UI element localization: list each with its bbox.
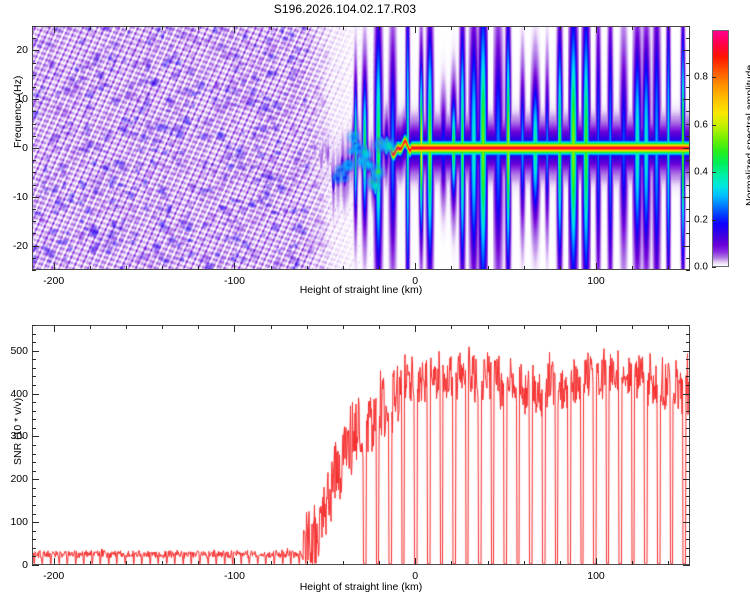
snr-xtick-minor — [451, 561, 452, 565]
spectrogram-xtick-minor-top — [90, 26, 91, 30]
snr-plot-area — [33, 326, 689, 564]
snr-ytick-minor — [32, 411, 36, 412]
snr-ytick-minor — [32, 402, 36, 403]
spectrogram-ytick-minor — [32, 136, 36, 137]
spectrogram-xaxis-title: Height of straight line (km) — [300, 284, 423, 296]
spectrogram-ytick-minor — [32, 221, 36, 222]
snr-ytick-minor-right — [686, 514, 690, 515]
snr-ytick-minor — [32, 539, 36, 540]
spectrogram-xtick-label: 100 — [587, 275, 605, 287]
spectrogram-xtick-minor — [90, 266, 91, 270]
spectrogram-ytick-minor-right — [686, 233, 690, 234]
spectrogram-canvas — [33, 27, 689, 269]
snr-ytick-minor — [32, 368, 36, 369]
snr-xtick-minor — [198, 561, 199, 565]
spectrogram-xtick-minor-top — [307, 26, 308, 30]
spectrogram-ytick-minor — [32, 26, 36, 27]
snr-ytick-minor-right — [686, 488, 690, 489]
snr-ytick-minor — [32, 419, 36, 420]
figure-root: S196.2026.104.02.17.R03 -200-1000100-20-… — [0, 0, 750, 600]
spectrogram-xtick — [415, 263, 416, 270]
snr-xtick-minor-top — [198, 325, 199, 329]
snr-ytick — [32, 522, 39, 523]
colorbar-tick-label: 0.2 — [682, 214, 708, 225]
spectrogram-ytick-minor-right — [686, 160, 690, 161]
snr-ytick — [32, 565, 39, 566]
spectrogram-ytick-minor — [32, 185, 36, 186]
spectrogram-ytick-minor — [32, 209, 36, 210]
spectrogram-ytick-minor-right — [686, 87, 690, 88]
snr-ytick-minor — [32, 454, 36, 455]
spectrogram-ytick-minor — [32, 124, 36, 125]
colorbar-tick-label: 0.0 — [682, 262, 708, 273]
snr-xtick-minor — [343, 561, 344, 565]
spectrogram-ytick-minor-right — [686, 38, 690, 39]
spectrogram-xtick-minor — [488, 266, 489, 270]
spectrogram-ytick-right — [683, 246, 690, 247]
snr-ytick-minor-right — [686, 539, 690, 540]
spectrogram-ytick — [32, 99, 39, 100]
spectrogram-xtick-top — [596, 26, 597, 33]
spectrogram-xtick-minor-top — [379, 26, 380, 30]
snr-ytick — [32, 394, 39, 395]
snr-ytick-minor — [32, 385, 36, 386]
spectrogram-ytick — [32, 246, 39, 247]
snr-xtick-minor-top — [271, 325, 272, 329]
colorbar-tick-label: 0.4 — [682, 167, 708, 178]
snr-ytick-right — [683, 565, 690, 566]
snr-xtick-minor — [90, 561, 91, 565]
spectrogram-ytick-minor-right — [686, 258, 690, 259]
snr-xtick-minor — [524, 561, 525, 565]
spectrogram-ytick-minor-right — [686, 209, 690, 210]
spectrogram-xtick-label: -100 — [224, 275, 245, 287]
snr-ytick-right — [683, 522, 690, 523]
snr-ytick-minor-right — [686, 445, 690, 446]
spectrogram-ytick-minor — [32, 87, 36, 88]
snr-xtick-minor-top — [488, 325, 489, 329]
snr-ytick-minor — [32, 488, 36, 489]
snr-canvas — [33, 326, 689, 564]
snr-xtick-label: -200 — [43, 570, 64, 582]
snr-ytick-minor-right — [686, 325, 690, 326]
spectrogram-plot-area — [33, 27, 689, 269]
spectrogram-ytick-minor — [32, 111, 36, 112]
spectrogram-xtick-minor-top — [560, 26, 561, 30]
spectrogram-axes — [32, 26, 690, 270]
snr-xtick-minor — [632, 561, 633, 565]
spectrogram-ytick-minor — [32, 63, 36, 64]
snr-ytick-minor-right — [686, 342, 690, 343]
spectrogram-xtick-minor — [162, 266, 163, 270]
snr-xtick-minor — [379, 561, 380, 565]
spectrogram-ytick-minor — [32, 75, 36, 76]
snr-yaxis-title: SNR (10 * v/v) — [12, 398, 24, 465]
snr-xtick-minor — [488, 561, 489, 565]
spectrogram-ytick-minor — [32, 172, 36, 173]
spectrogram-ytick-label: 20 — [2, 44, 28, 56]
snr-ytick-label: 100 — [2, 516, 28, 528]
spectrogram-ytick-minor-right — [686, 136, 690, 137]
spectrogram-ytick-right — [683, 99, 690, 100]
spectrogram-xtick-top — [415, 26, 416, 33]
spectrogram-xtick-minor-top — [632, 26, 633, 30]
snr-xtick-minor-top — [307, 325, 308, 329]
spectrogram-xtick-minor-top — [343, 26, 344, 30]
snr-xtick-minor — [560, 561, 561, 565]
spectrogram-ytick-minor-right — [686, 111, 690, 112]
snr-xtick-minor — [162, 561, 163, 565]
snr-xtick — [234, 558, 235, 565]
snr-xtick-minor — [668, 561, 669, 565]
snr-ytick — [32, 351, 39, 352]
snr-xtick-minor-top — [524, 325, 525, 329]
snr-ytick-minor-right — [686, 411, 690, 412]
snr-ytick-minor-right — [686, 556, 690, 557]
snr-ytick-minor — [32, 514, 36, 515]
spectrogram-ytick — [32, 148, 39, 149]
colorbar-tick — [712, 172, 716, 173]
snr-ytick-minor — [32, 471, 36, 472]
spectrogram-ytick-minor — [32, 160, 36, 161]
spectrogram-xtick-minor — [632, 266, 633, 270]
snr-ytick-minor-right — [686, 359, 690, 360]
snr-ytick-minor — [32, 325, 36, 326]
spectrogram-ytick-minor-right — [686, 63, 690, 64]
spectrogram-xtick-minor — [451, 266, 452, 270]
snr-ytick-minor — [32, 359, 36, 360]
spectrogram-xtick — [54, 263, 55, 270]
snr-xaxis-title: Height of straight line (km) — [300, 581, 423, 593]
spectrogram-ytick-minor — [32, 258, 36, 259]
snr-ytick-minor-right — [686, 531, 690, 532]
snr-ytick-label: 0 — [2, 559, 28, 571]
spectrogram-ytick-right — [683, 148, 690, 149]
snr-xtick-top — [596, 325, 597, 332]
snr-xtick-minor-top — [343, 325, 344, 329]
snr-ytick-minor-right — [686, 505, 690, 506]
spectrogram-ytick-right — [683, 197, 690, 198]
spectrogram-xtick-minor — [343, 266, 344, 270]
snr-ytick — [32, 436, 39, 437]
spectrogram-ytick-label: -20 — [2, 240, 28, 252]
spectrogram-xtick-minor — [126, 266, 127, 270]
snr-axes — [32, 325, 690, 565]
spectrogram-xtick — [596, 263, 597, 270]
snr-ytick-minor — [32, 548, 36, 549]
snr-ytick-minor-right — [686, 496, 690, 497]
spectrogram-xtick-minor — [560, 266, 561, 270]
spectrogram-ytick-minor — [32, 233, 36, 234]
snr-xtick-top — [54, 325, 55, 332]
spectrogram-xtick-top — [234, 26, 235, 33]
snr-xtick-top — [415, 325, 416, 332]
snr-xtick — [54, 558, 55, 565]
colorbar-title: Normalized spectral amplitude — [744, 65, 750, 206]
snr-xtick-minor-top — [560, 325, 561, 329]
snr-ytick-minor — [32, 428, 36, 429]
spectrogram-xtick-minor-top — [126, 26, 127, 30]
snr-xtick — [415, 558, 416, 565]
snr-ytick-minor — [32, 496, 36, 497]
spectrogram-xtick-minor-top — [488, 26, 489, 30]
spectrogram-xtick-minor — [524, 266, 525, 270]
colorbar-tick — [712, 77, 716, 78]
colorbar — [712, 30, 729, 267]
spectrogram-ytick-minor — [32, 38, 36, 39]
snr-xtick-label: -100 — [224, 570, 245, 582]
snr-ytick-label: 200 — [2, 473, 28, 485]
spectrogram-ytick-minor — [32, 270, 36, 271]
spectrogram-xtick-minor-top — [524, 26, 525, 30]
snr-xtick-minor — [126, 561, 127, 565]
snr-ytick-minor-right — [686, 368, 690, 369]
snr-ytick-minor-right — [686, 376, 690, 377]
colorbar-tick — [712, 267, 716, 268]
snr-ytick-minor-right — [686, 471, 690, 472]
spectrogram-ytick-minor-right — [686, 185, 690, 186]
snr-ytick-minor-right — [686, 428, 690, 429]
snr-ytick-minor — [32, 334, 36, 335]
spectrogram-xtick-minor — [307, 266, 308, 270]
spectrogram-xtick-minor — [198, 266, 199, 270]
snr-ytick-minor-right — [686, 462, 690, 463]
snr-ytick-minor — [32, 531, 36, 532]
snr-xtick-top — [234, 325, 235, 332]
colorbar-tick — [712, 125, 716, 126]
snr-xtick — [596, 558, 597, 565]
snr-ytick-minor-right — [686, 402, 690, 403]
snr-ytick-minor-right — [686, 454, 690, 455]
spectrogram-ytick-label: -10 — [2, 191, 28, 203]
snr-xtick-minor-top — [632, 325, 633, 329]
spectrogram-ytick-minor-right — [686, 26, 690, 27]
spectrogram-xtick-minor-top — [271, 26, 272, 30]
snr-xtick-minor-top — [668, 325, 669, 329]
colorbar-tick — [712, 220, 716, 221]
spectrogram-xtick-minor-top — [198, 26, 199, 30]
spectrogram-xtick-minor-top — [451, 26, 452, 30]
snr-xtick-minor-top — [90, 325, 91, 329]
spectrogram-ytick — [32, 50, 39, 51]
snr-xtick-minor — [271, 561, 272, 565]
snr-ytick-minor-right — [686, 548, 690, 549]
spectrogram-ytick-right — [683, 50, 690, 51]
snr-ytick-minor — [32, 445, 36, 446]
snr-ytick-minor-right — [686, 385, 690, 386]
snr-ytick-minor-right — [686, 334, 690, 335]
snr-ytick-minor-right — [686, 419, 690, 420]
snr-xtick-minor-top — [162, 325, 163, 329]
snr-ytick-right — [683, 351, 690, 352]
colorbar-tick-label: 0.6 — [682, 119, 708, 130]
snr-xtick-label: 100 — [587, 570, 605, 582]
snr-ytick-minor — [32, 556, 36, 557]
spectrogram-xtick-top — [54, 26, 55, 33]
snr-xtick-minor-top — [379, 325, 380, 329]
snr-ytick-minor — [32, 342, 36, 343]
spectrogram-xtick-minor — [379, 266, 380, 270]
spectrogram-xtick-minor-top — [162, 26, 163, 30]
snr-ytick-right — [683, 436, 690, 437]
snr-ytick-minor — [32, 376, 36, 377]
colorbar-tick-label: 0.8 — [682, 72, 708, 83]
page-title: S196.2026.104.02.17.R03 — [0, 2, 690, 16]
spectrogram-yaxis-title: Frequency (Hz) — [12, 76, 24, 148]
spectrogram-xtick-minor — [668, 266, 669, 270]
spectrogram-xtick-minor — [271, 266, 272, 270]
snr-ytick — [32, 479, 39, 480]
spectrogram-xtick — [234, 263, 235, 270]
snr-ytick-label: 500 — [2, 345, 28, 357]
spectrogram-xtick-label: -200 — [43, 275, 64, 287]
snr-ytick-minor — [32, 505, 36, 506]
spectrogram-xtick-minor-top — [668, 26, 669, 30]
snr-xtick-minor — [307, 561, 308, 565]
snr-ytick-right — [683, 394, 690, 395]
snr-xtick-minor-top — [126, 325, 127, 329]
snr-ytick-minor — [32, 462, 36, 463]
snr-xtick-minor-top — [451, 325, 452, 329]
snr-ytick-right — [683, 479, 690, 480]
spectrogram-ytick — [32, 197, 39, 198]
